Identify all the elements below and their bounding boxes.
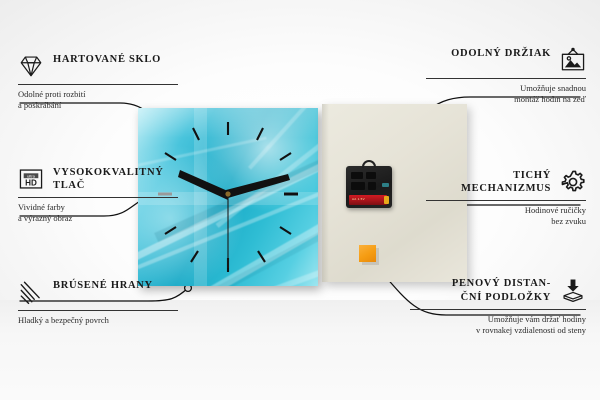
feature-subtitle-line-1: Vividné farby [18, 202, 178, 213]
feature-tempered-glass: HARTOVANÉ SKLO Odolné proti rozbití a po… [18, 52, 178, 111]
feature-title: BRÚSENÉ HRANY [53, 278, 153, 292]
feature-subtitle-line-2: a výrazný obraz [18, 213, 178, 224]
gear-icon [560, 169, 586, 195]
feature-high-quality-print: ultra HD VYSOKOKVALITNÝ TLAČ Vividné far… [18, 165, 178, 224]
feature-foam-spacers: PENOVÝ DISTAN- ČNÍ PODLOŽKY Umožňuje vám… [410, 276, 586, 336]
feature-subtitle-line-1: Odolné proti rozbití [18, 89, 178, 100]
feature-title-line-2: ČNÍ PODLOŽKY [452, 290, 551, 304]
picture-frame-icon [560, 47, 586, 73]
feature-silent-mechanism: TICHÝ MECHANIZMUS Hodinové ručičky bez z… [426, 168, 586, 227]
divider [18, 197, 178, 198]
feature-subtitle-line-2: montáž hodin na zeď [426, 94, 586, 105]
spacer-stack-icon [560, 277, 586, 303]
product-infographic: AA 1.5V HARTOVANÉ SKLO Odolné proti rozb… [0, 0, 600, 400]
ground-edges-icon [18, 279, 44, 305]
diamond-icon [18, 53, 44, 79]
feature-subtitle-line-1: Umožňuje snadnou [426, 83, 586, 94]
divider [426, 78, 586, 79]
battery: AA 1.5V [349, 195, 387, 205]
feature-ground-edges: BRÚSENÉ HRANY Hladký a bezpečný povrch [18, 278, 178, 326]
feature-title: ODOLNÝ DRŽIAK [451, 46, 551, 60]
feature-subtitle-line-2: bez zvuku [426, 216, 586, 227]
ultra-hd-icon: ultra HD [18, 166, 44, 192]
divider [426, 200, 586, 201]
svg-text:ultra: ultra [27, 173, 36, 178]
divider [410, 309, 586, 310]
feature-subtitle-line-1: Hladký a bezpečný povrch [18, 315, 178, 326]
clock-mechanism-box: AA 1.5V [346, 166, 392, 208]
feature-title: HARTOVANÉ SKLO [53, 52, 161, 66]
feature-title: TICHÝ MECHANIZMUS [426, 168, 551, 195]
divider [18, 310, 178, 311]
feature-durable-holder: ODOLNÝ DRŽIAK Umožňuje snadnou montáž ho… [426, 46, 586, 105]
feature-title-line-1: PENOVÝ DISTAN- [452, 276, 551, 290]
foam-spacer-pad [359, 245, 376, 262]
feature-subtitle-line-1: Umožňuje vám držať hodiny [410, 314, 586, 325]
feature-subtitle-line-2: a poškrábání [18, 100, 178, 111]
mechanism-hanger-lug [362, 160, 376, 168]
divider [18, 84, 178, 85]
svg-text:HD: HD [25, 179, 37, 188]
feature-title: VYSOKOKVALITNÝ TLAČ [53, 165, 178, 192]
feature-subtitle-line-2: v rovnakej vzdialenosti od steny [410, 325, 586, 336]
feature-subtitle-line-1: Hodinové ručičky [426, 205, 586, 216]
